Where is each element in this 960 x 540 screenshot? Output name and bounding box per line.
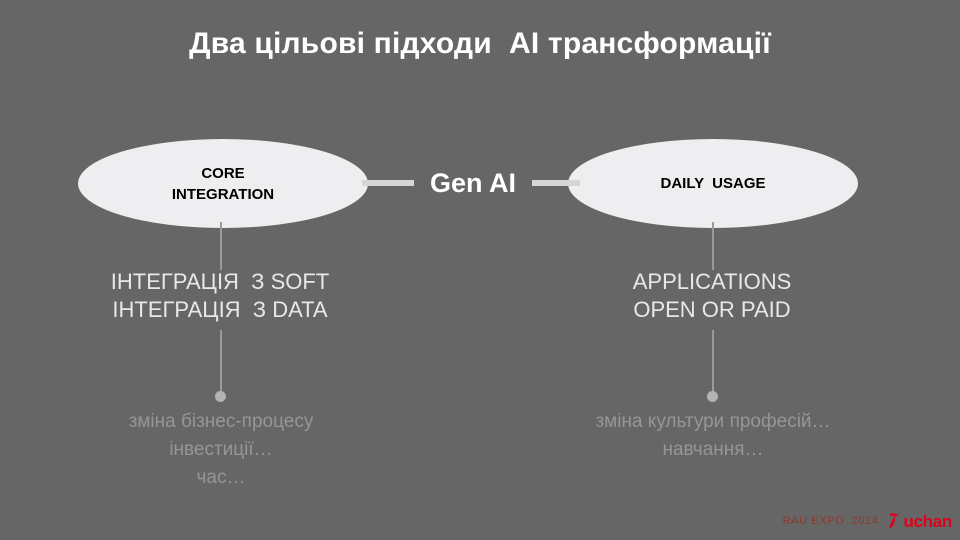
connector-line-left-upper <box>220 222 222 270</box>
node-core-integration[interactable]: CORE INTEGRATION <box>78 139 368 228</box>
slide-canvas: Два цільові підходи AI трансформації COR… <box>0 0 960 540</box>
auchan-bird-icon <box>885 511 905 531</box>
node-daily-usage[interactable]: DAILY USAGE <box>568 139 858 228</box>
node-core-integration-label: CORE INTEGRATION <box>172 163 274 205</box>
connector-endpoint-dot-left <box>215 391 226 402</box>
right-branch-detail-text: APPLICATIONS OPEN OR PAID <box>552 268 872 324</box>
connector-bar-left <box>362 180 414 186</box>
connector-endpoint-dot-right <box>707 391 718 402</box>
left-branch-detail-text: ІНТЕГРАЦІЯ З SOFT ІНТЕГРАЦІЯ З DATA <box>60 268 380 324</box>
left-branch-outcome-text: зміна бізнес-процесу інвестиції… час… <box>62 408 380 492</box>
connector-bar-right <box>532 180 580 186</box>
auchan-logo: uchan <box>885 511 952 531</box>
node-daily-usage-label: DAILY USAGE <box>660 173 765 194</box>
right-branch-outcome-text: зміна культури професій… навчання… <box>554 408 872 464</box>
connector-line-right-lower <box>712 330 714 394</box>
footer-event-label: RAU EXPO 2024 <box>783 515 879 527</box>
center-label-gen-ai: Gen AI <box>418 167 528 199</box>
connector-line-left-lower <box>220 330 222 394</box>
page-title: Два цільові підходи AI трансформації <box>60 26 900 62</box>
connector-line-right-upper <box>712 222 714 270</box>
footer: RAU EXPO 2024 uchan <box>783 510 952 532</box>
auchan-wordmark: uchan <box>903 513 952 531</box>
